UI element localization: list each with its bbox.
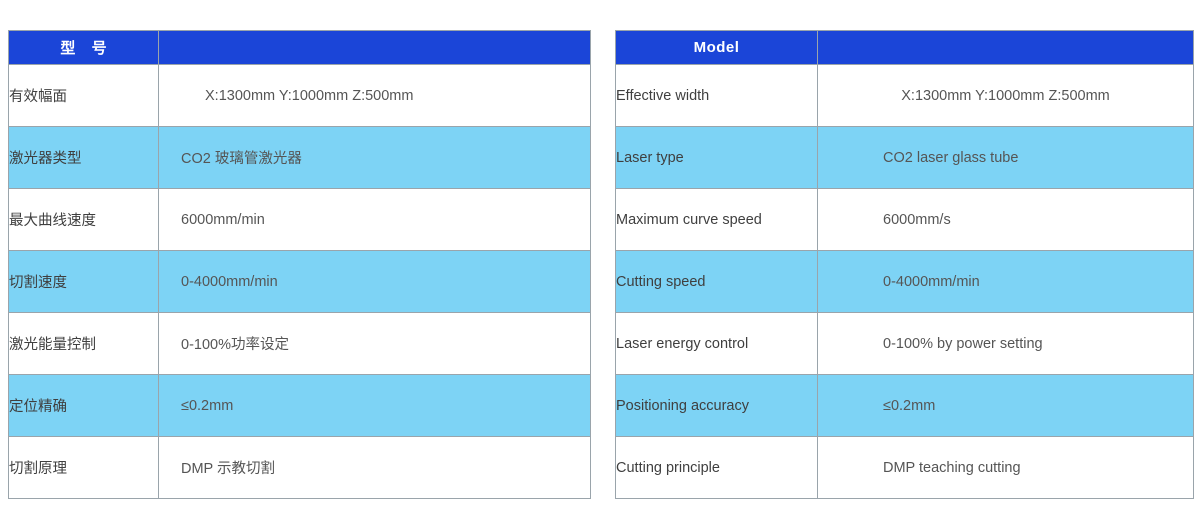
table-row: Positioning accuracy≤0.2mm — [616, 375, 1194, 437]
spec-label-cell: Cutting principle — [616, 437, 818, 499]
table-row: Cutting speed0-4000mm/min — [616, 251, 1194, 313]
spec-value-cell: ≤0.2mm — [818, 375, 1194, 437]
table-row: 最大曲线速度6000mm/min — [9, 189, 591, 251]
specification-tables-stage: 型 号 有效幅面X:1300mm Y:1000mm Z:500mm激光器类型CO… — [0, 0, 1200, 515]
spec-value-cell: X:1300mm Y:1000mm Z:500mm — [818, 65, 1194, 127]
spec-label-cell: Cutting speed — [616, 251, 818, 313]
spec-value-cell: DMP 示教切割 — [159, 437, 591, 499]
table-row: Maximum curve speed6000mm/s — [616, 189, 1194, 251]
spec-label-cell: 有效幅面 — [9, 65, 159, 127]
spec-value-cell: ≤0.2mm — [159, 375, 591, 437]
spec-value-cell: 6000mm/s — [818, 189, 1194, 251]
spec-label-cell: 切割速度 — [9, 251, 159, 313]
spec-label-cell: Positioning accuracy — [616, 375, 818, 437]
spec-label-cell: Effective width — [616, 65, 818, 127]
table-row: 激光能量控制0-100%功率设定 — [9, 313, 591, 375]
spec-table-chinese-head: 型 号 — [9, 31, 591, 65]
header-cell-blank-zh — [159, 31, 591, 65]
table-row: 切割速度0-4000mm/min — [9, 251, 591, 313]
table-row: 切割原理DMP 示教切割 — [9, 437, 591, 499]
spec-label-cell: Maximum curve speed — [616, 189, 818, 251]
spec-value-cell: CO2 玻璃管激光器 — [159, 127, 591, 189]
spec-label-cell: 激光能量控制 — [9, 313, 159, 375]
table-row: 有效幅面X:1300mm Y:1000mm Z:500mm — [9, 65, 591, 127]
spec-label-cell: 切割原理 — [9, 437, 159, 499]
table-row: 定位精确≤0.2mm — [9, 375, 591, 437]
spec-label-cell: 最大曲线速度 — [9, 189, 159, 251]
spec-value-cell: CO2 laser glass tube — [818, 127, 1194, 189]
spec-label-cell: Laser type — [616, 127, 818, 189]
spec-value-cell: 0-100% by power setting — [818, 313, 1194, 375]
table-row: Laser typeCO2 laser glass tube — [616, 127, 1194, 189]
spec-table-chinese: 型 号 有效幅面X:1300mm Y:1000mm Z:500mm激光器类型CO… — [8, 30, 591, 499]
spec-table-english: Model Effective widthX:1300mm Y:1000mm Z… — [615, 30, 1194, 499]
spec-label-cell: 定位精确 — [9, 375, 159, 437]
spec-value-cell: 0-4000mm/min — [818, 251, 1194, 313]
header-label-zh: 型 号 — [54, 37, 112, 58]
table-row: Cutting principleDMP teaching cutting — [616, 437, 1194, 499]
spec-table-english-head: Model — [616, 31, 1194, 65]
spec-table-chinese-body: 有效幅面X:1300mm Y:1000mm Z:500mm激光器类型CO2 玻璃… — [9, 65, 591, 499]
spec-table-english-body: Effective widthX:1300mm Y:1000mm Z:500mm… — [616, 65, 1194, 499]
spec-value-cell: 0-100%功率设定 — [159, 313, 591, 375]
spec-value-cell: 6000mm/min — [159, 189, 591, 251]
header-cell-blank-en — [818, 31, 1194, 65]
header-cell-model-en: Model — [616, 31, 818, 65]
spec-value-cell: 0-4000mm/min — [159, 251, 591, 313]
table-header-row: 型 号 — [9, 31, 591, 65]
spec-value-cell: X:1300mm Y:1000mm Z:500mm — [159, 65, 591, 127]
table-row: Effective widthX:1300mm Y:1000mm Z:500mm — [616, 65, 1194, 127]
header-cell-model-zh: 型 号 — [9, 31, 159, 65]
spec-label-cell: Laser energy control — [616, 313, 818, 375]
table-header-row: Model — [616, 31, 1194, 65]
spec-label-cell: 激光器类型 — [9, 127, 159, 189]
table-row: 激光器类型CO2 玻璃管激光器 — [9, 127, 591, 189]
spec-value-cell: DMP teaching cutting — [818, 437, 1194, 499]
table-row: Laser energy control0-100% by power sett… — [616, 313, 1194, 375]
